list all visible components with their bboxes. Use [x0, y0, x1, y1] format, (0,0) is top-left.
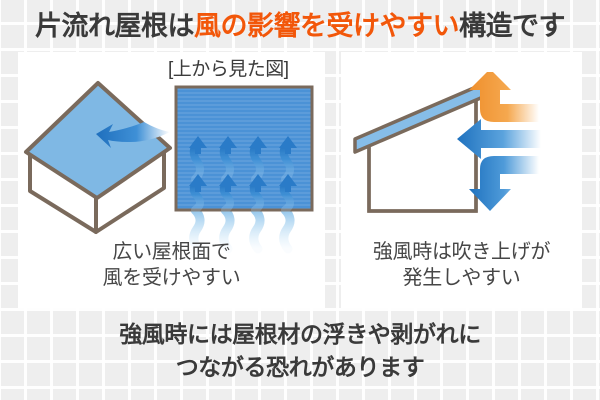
bottom-caption-line2: つながる恐れがあります: [0, 351, 600, 384]
left-panel-caption: 広い屋根面で 風を受けやすい: [18, 239, 325, 291]
top-view-label: [上から見た図]: [168, 59, 289, 81]
right-illustration-panel: 強風時は吹き上げが 発生しやすい: [341, 52, 582, 308]
page-title: 片流れ屋根は風の影響を受けやすい構造です: [0, 6, 600, 46]
side-view-house-illustration: [349, 72, 579, 237]
isometric-house-illustration: [18, 70, 183, 245]
title-suffix: 構造です: [459, 11, 565, 41]
downdraft-arrow-icon: [469, 156, 539, 211]
title-highlight: 風の影響を受けやすい: [194, 11, 459, 41]
title-prefix: 片流れ屋根は: [35, 11, 194, 41]
right-caption-line2: 発生しやすい: [341, 265, 582, 291]
bottom-caption: 強風時には屋根材の浮きや剥がれに つながる恐れがあります: [0, 318, 600, 384]
left-illustration-panel: [上から見た図]: [18, 52, 325, 308]
left-caption-line1: 広い屋根面で: [18, 239, 325, 265]
right-caption-line1: 強風時は吹き上げが: [341, 239, 582, 265]
bottom-caption-line1: 強風時には屋根材の浮きや剥がれに: [0, 318, 600, 351]
infographic-root: 片流れ屋根は風の影響を受けやすい構造です: [0, 0, 600, 400]
top-view-roof-surface: [173, 84, 318, 259]
right-panel-caption: 強風時は吹き上げが 発生しやすい: [341, 239, 582, 291]
left-caption-line2: 風を受けやすい: [18, 265, 325, 291]
